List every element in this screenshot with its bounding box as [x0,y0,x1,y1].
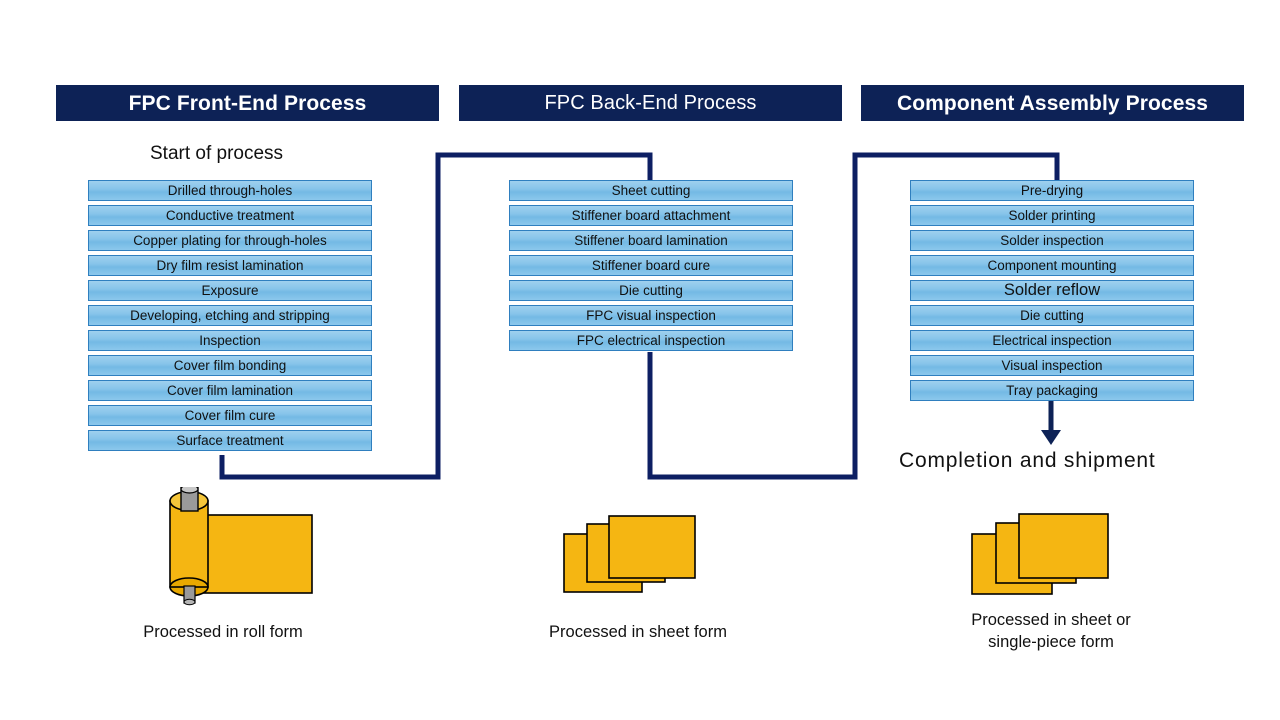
process-step-box[interactable]: Stiffener board cure [509,255,793,276]
process-step-box[interactable]: Tray packaging [910,380,1194,401]
sheet-stack-icon-assembly [968,510,1133,610]
step-list-back-end: Sheet cuttingStiffener board attachmentS… [509,180,793,355]
process-step-box[interactable]: Exposure [88,280,372,301]
column-header-back-end: FPC Back-End Process [459,85,842,121]
process-step-box[interactable]: Cover film bonding [88,355,372,376]
column-header-front-end-label: FPC Front-End Process [129,93,367,114]
process-step-box[interactable]: Dry film resist lamination [88,255,372,276]
form-caption-sheet: Processed in sheet form [518,621,758,643]
paper-roll-icon [160,487,320,607]
column-header-back-end-label: FPC Back-End Process [544,93,756,113]
process-step-box[interactable]: FPC visual inspection [509,305,793,326]
process-step-box[interactable]: FPC electrical inspection [509,330,793,351]
process-flow-diagram: FPC Front-End Process FPC Back-End Proce… [0,0,1280,720]
process-step-box[interactable]: Copper plating for through-holes [88,230,372,251]
process-step-box[interactable]: Surface treatment [88,430,372,451]
process-step-box[interactable]: Visual inspection [910,355,1194,376]
form-caption-roll: Processed in roll form [103,621,343,643]
process-step-box[interactable]: Cover film lamination [88,380,372,401]
process-step-box[interactable]: Sheet cutting [509,180,793,201]
form-caption-sheet-or-single-piece: Processed in sheet orsingle-piece form [931,609,1171,654]
process-step-box[interactable]: Pre-drying [910,180,1194,201]
process-step-box[interactable]: Cover film cure [88,405,372,426]
process-step-box[interactable]: Die cutting [910,305,1194,326]
process-step-box[interactable]: Solder reflow [910,280,1194,301]
process-step-box[interactable]: Solder printing [910,205,1194,226]
step-list-front-end: Drilled through-holesConductive treatmen… [88,180,372,455]
process-step-box[interactable]: Drilled through-holes [88,180,372,201]
process-step-box[interactable]: Inspection [88,330,372,351]
column-header-component-assembly-label: Component Assembly Process [897,93,1208,114]
process-step-box[interactable]: Conductive treatment [88,205,372,226]
process-step-box[interactable]: Developing, etching and stripping [88,305,372,326]
process-step-box[interactable]: Die cutting [509,280,793,301]
process-step-box[interactable]: Stiffener board lamination [509,230,793,251]
step-list-component-assembly: Pre-dryingSolder printingSolder inspecti… [910,180,1194,405]
process-step-box[interactable]: Electrical inspection [910,330,1194,351]
arrowhead-down-icon [1041,430,1061,445]
column-header-front-end: FPC Front-End Process [56,85,439,121]
start-of-process-label: Start of process [150,143,283,165]
process-step-box[interactable]: Solder inspection [910,230,1194,251]
completion-and-shipment-label: Completion and shipment [899,449,1156,473]
process-step-box[interactable]: Component mounting [910,255,1194,276]
sheet-stack-icon [560,512,720,607]
process-step-box[interactable]: Stiffener board attachment [509,205,793,226]
column-header-component-assembly: Component Assembly Process [861,85,1244,121]
